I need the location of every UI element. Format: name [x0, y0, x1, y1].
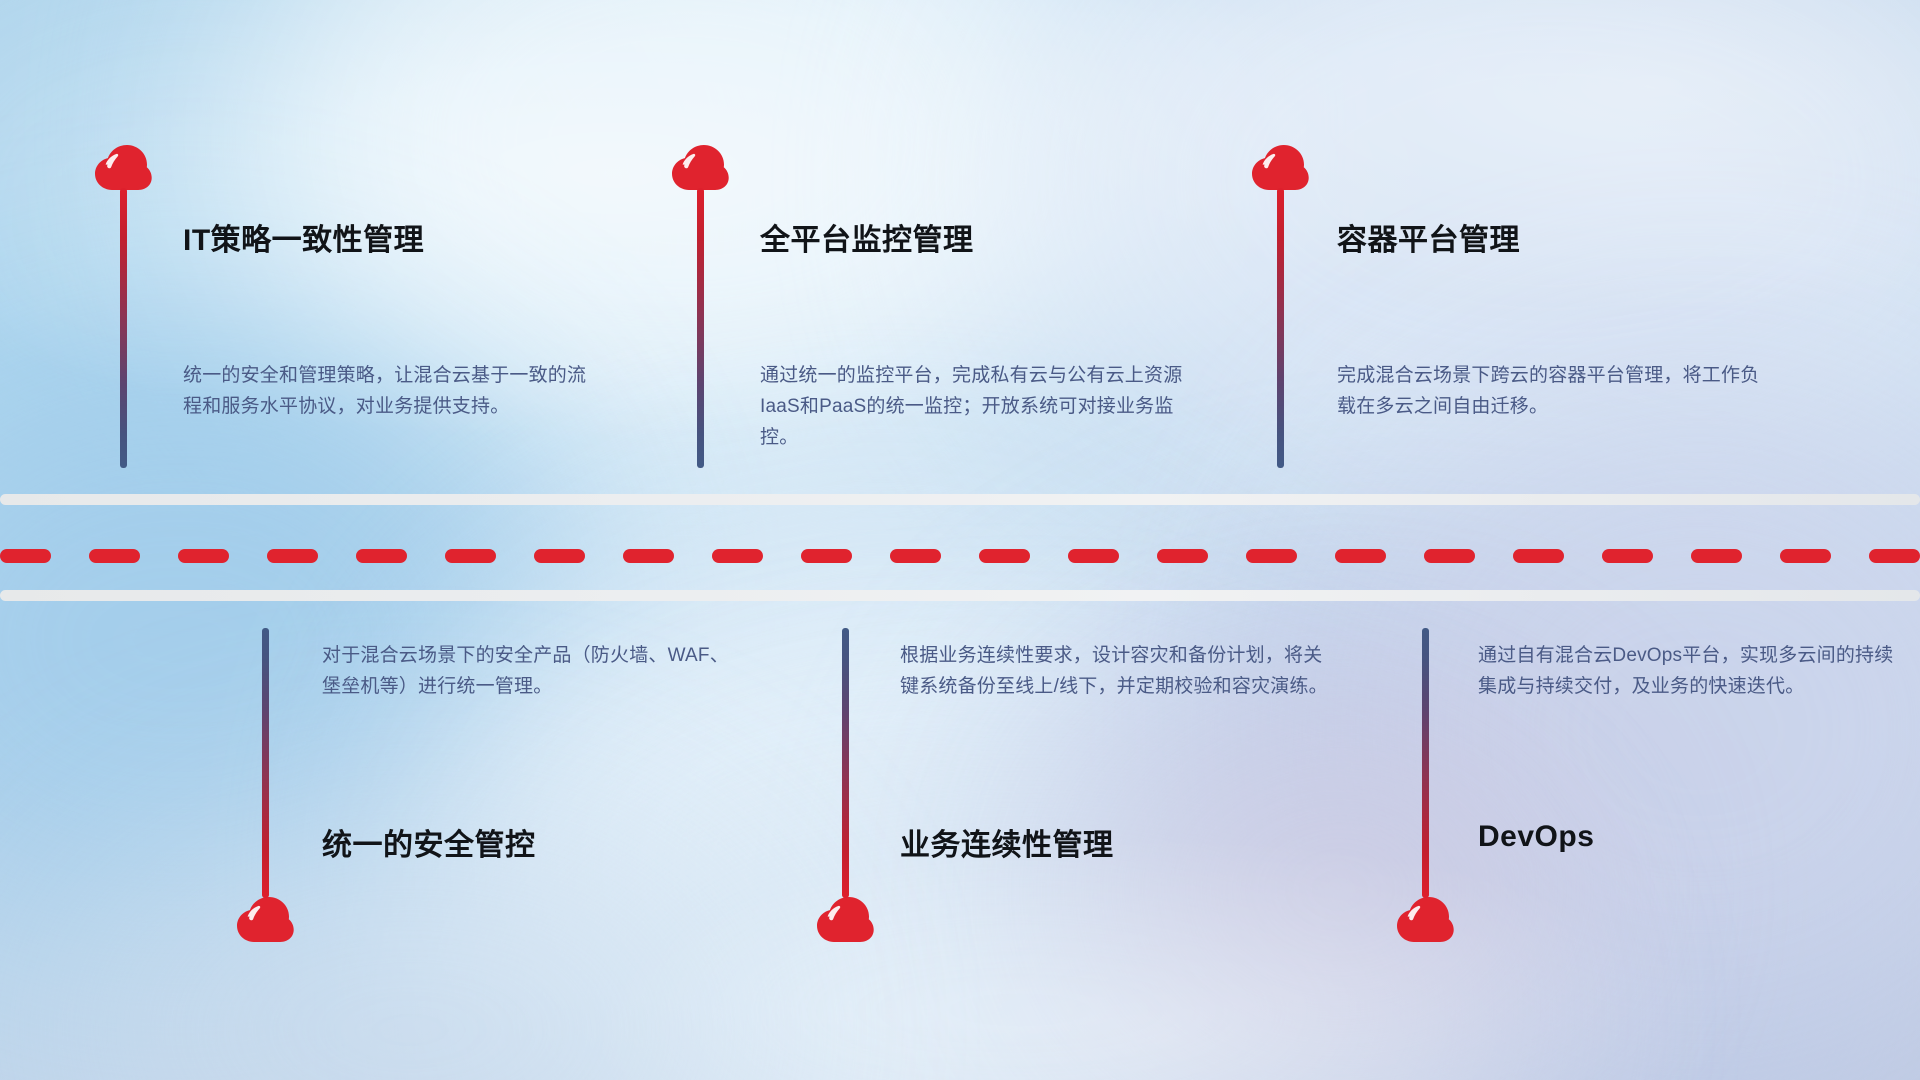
- road-dash-segment: [1602, 549, 1653, 563]
- road-dash-segment: [1780, 549, 1831, 563]
- road-dashed-center-line: [0, 549, 1920, 563]
- road-dash-segment: [356, 549, 407, 563]
- road-dash-segment: [1335, 549, 1386, 563]
- road-solid-line-bottom: [0, 590, 1920, 601]
- road-dash-segment: [1068, 549, 1119, 563]
- road-dash-segment: [267, 549, 318, 563]
- road-dash-segment: [89, 549, 140, 563]
- road-dash-segment: [1424, 549, 1475, 563]
- road-dash-segment: [0, 549, 51, 563]
- road-dash-segment: [1513, 549, 1564, 563]
- road-dash-segment: [178, 549, 229, 563]
- background-vignette: [0, 0, 1920, 1080]
- road-dash-segment: [801, 549, 852, 563]
- road-dash-segment: [1246, 549, 1297, 563]
- road-dash-segment: [1869, 549, 1920, 563]
- road-dash-segment: [1691, 549, 1742, 563]
- road-dash-segment: [445, 549, 496, 563]
- road-dash-segment: [623, 549, 674, 563]
- road-dash-segment: [1157, 549, 1208, 563]
- road-dash-segment: [712, 549, 763, 563]
- road-dash-segment: [534, 549, 585, 563]
- road-dash-segment: [979, 549, 1030, 563]
- road-dash-segment: [890, 549, 941, 563]
- infographic-canvas: IT策略一致性管理 统一的安全和管理策略，让混合云基于一致的流程和服务水平协议，…: [0, 0, 1920, 1080]
- road-solid-line-top: [0, 494, 1920, 505]
